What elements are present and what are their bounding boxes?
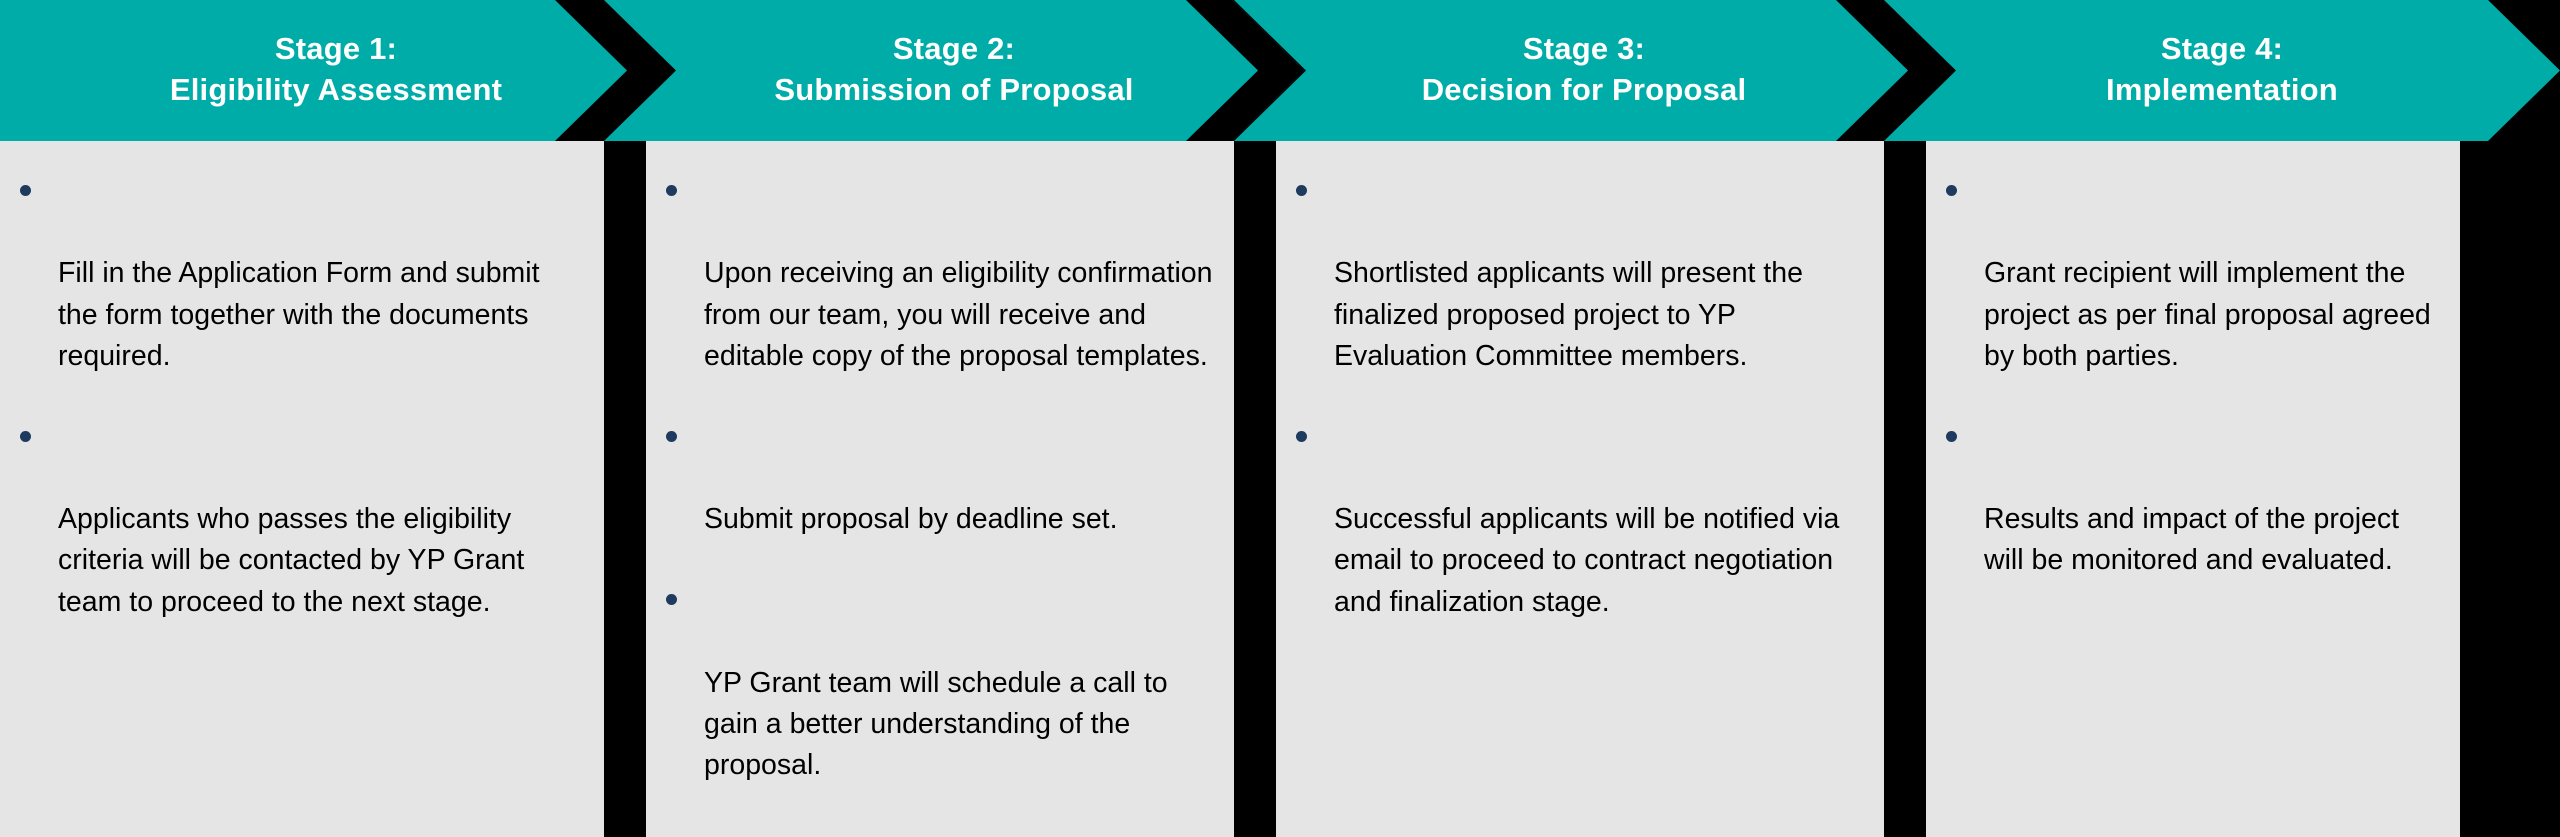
bullet-dot-icon	[666, 185, 677, 196]
stage-process-diagram: Stage 1: Eligibility Assessment Fill in …	[0, 0, 2560, 837]
bullet-text: Grant recipient will implement the proje…	[1984, 257, 2431, 371]
bullet-text: Fill in the Application Form and submit …	[58, 257, 540, 371]
stage-body-1: Fill in the Application Form and submit …	[0, 141, 604, 837]
stage-title-line1-2: Stage 2:	[893, 29, 1015, 69]
bullet-list-3: Shortlisted applicants will present the …	[1276, 171, 1866, 623]
bullet-text: Shortlisted applicants will present the …	[1334, 257, 1803, 371]
bullet-list-4: Grant recipient will implement the proje…	[1926, 171, 2442, 582]
stage-body-4: Grant recipient will implement the proje…	[1926, 141, 2460, 837]
stage-header-3[interactable]: Stage 3: Decision for Proposal	[1234, 0, 1934, 141]
stage-header-1[interactable]: Stage 1: Eligibility Assessment	[0, 0, 672, 141]
list-item: Applicants who passes the eligibility cr…	[0, 417, 586, 623]
stage-title-line2-4: Implementation	[2106, 70, 2338, 110]
bullet-text: Results and impact of the project will b…	[1984, 503, 2399, 576]
stage-title-line2-1: Eligibility Assessment	[170, 70, 502, 110]
list-item: Grant recipient will implement the proje…	[1926, 171, 2442, 377]
list-item: Upon receiving an eligibility confirmati…	[646, 171, 1216, 377]
stage-title-line2-3: Decision for Proposal	[1422, 70, 1747, 110]
stage-header-4[interactable]: Stage 4: Implementation	[1884, 0, 2560, 141]
bullet-dot-icon	[1296, 185, 1307, 196]
stage-title-line1-1: Stage 1:	[275, 29, 397, 69]
bullet-text: Submit proposal by deadline set.	[704, 503, 1118, 535]
bullet-list-2: Upon receiving an eligibility confirmati…	[646, 171, 1216, 786]
list-item: YP Grant team will schedule a call to ga…	[646, 580, 1216, 786]
bullet-dot-icon	[20, 185, 31, 196]
stage-title-line1-4: Stage 4:	[2161, 29, 2283, 69]
list-item: Successful applicants will be notified v…	[1276, 417, 1866, 623]
list-item: Shortlisted applicants will present the …	[1276, 171, 1866, 377]
bullet-list-1: Fill in the Application Form and submit …	[0, 171, 586, 623]
body-divider-3	[1884, 141, 1926, 837]
body-divider-1	[604, 141, 646, 837]
list-item: Results and impact of the project will b…	[1926, 417, 2442, 582]
bullet-text: YP Grant team will schedule a call to ga…	[704, 667, 1168, 781]
list-item: Submit proposal by deadline set.	[646, 417, 1216, 541]
bullet-text: Successful applicants will be notified v…	[1334, 503, 1839, 617]
stage-title-line1-3: Stage 3:	[1523, 29, 1645, 69]
bullet-dot-icon	[1946, 431, 1957, 442]
stage-header-2[interactable]: Stage 2: Submission of Proposal	[604, 0, 1304, 141]
bullet-dot-icon	[666, 594, 677, 605]
stage-title-line2-2: Submission of Proposal	[774, 70, 1133, 110]
bullet-dot-icon	[1296, 431, 1307, 442]
bullet-text: Applicants who passes the eligibility cr…	[58, 503, 524, 617]
stage-body-3: Shortlisted applicants will present the …	[1276, 141, 1884, 837]
stage-body-2: Upon receiving an eligibility confirmati…	[646, 141, 1234, 837]
bullet-dot-icon	[666, 431, 677, 442]
bullet-text: Upon receiving an eligibility confirmati…	[704, 257, 1213, 371]
bullet-dot-icon	[20, 431, 31, 442]
bullet-dot-icon	[1946, 185, 1957, 196]
list-item: Fill in the Application Form and submit …	[0, 171, 586, 377]
right-edge-fill	[2460, 141, 2560, 837]
body-divider-2	[1234, 141, 1276, 837]
